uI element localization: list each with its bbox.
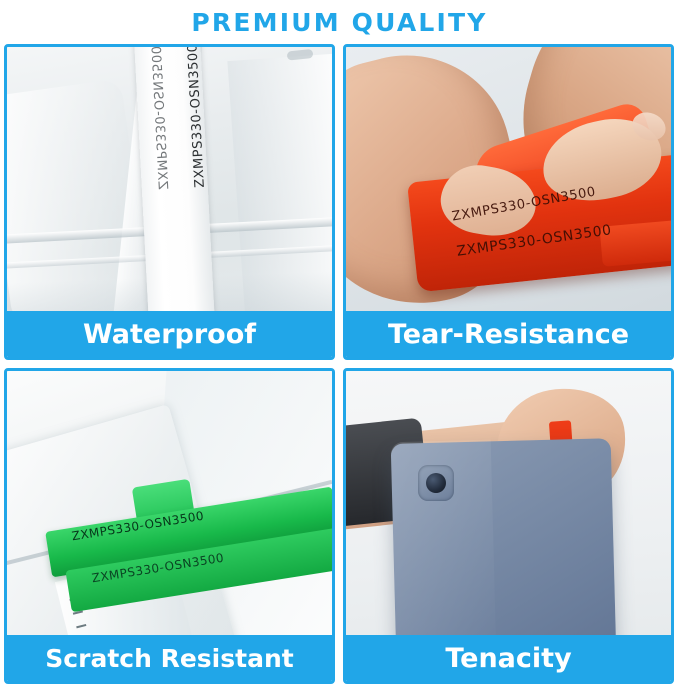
feature-panel-tenacity: Tenacity — [343, 368, 674, 684]
caption-scratch-resistant: Scratch Resistant — [7, 635, 332, 681]
ruler-tick — [76, 624, 86, 628]
caption-tenacity: Tenacity — [346, 635, 671, 681]
product-infographic: PREMIUM QUALITY ZXMPS330-OSN3500 ZXMPS33… — [0, 0, 679, 688]
feature-panel-waterproof: ZXMPS330-OSN3500 ZXMPS330-OSN3500 Waterp… — [4, 44, 335, 360]
feature-panel-scratch-resistant: 0 1 cm ZXMPS330-OSN3500 ZXMPS330-OSN3500… — [4, 368, 335, 684]
feature-grid: ZXMPS330-OSN3500 ZXMPS330-OSN3500 Waterp… — [4, 44, 675, 684]
caption-waterproof: Waterproof — [7, 311, 332, 357]
caption-tear-resistance: Tear-Resistance — [346, 311, 671, 357]
feature-panel-tear-resistance: ZXMPS330-OSN3500 ZXMPS330-OSN3500 Tear-R… — [343, 44, 674, 360]
camera-lens — [426, 473, 446, 493]
page-title: PREMIUM QUALITY — [0, 0, 679, 44]
tag-code-back: ZXMPS330-OSN3500 — [147, 47, 170, 190]
